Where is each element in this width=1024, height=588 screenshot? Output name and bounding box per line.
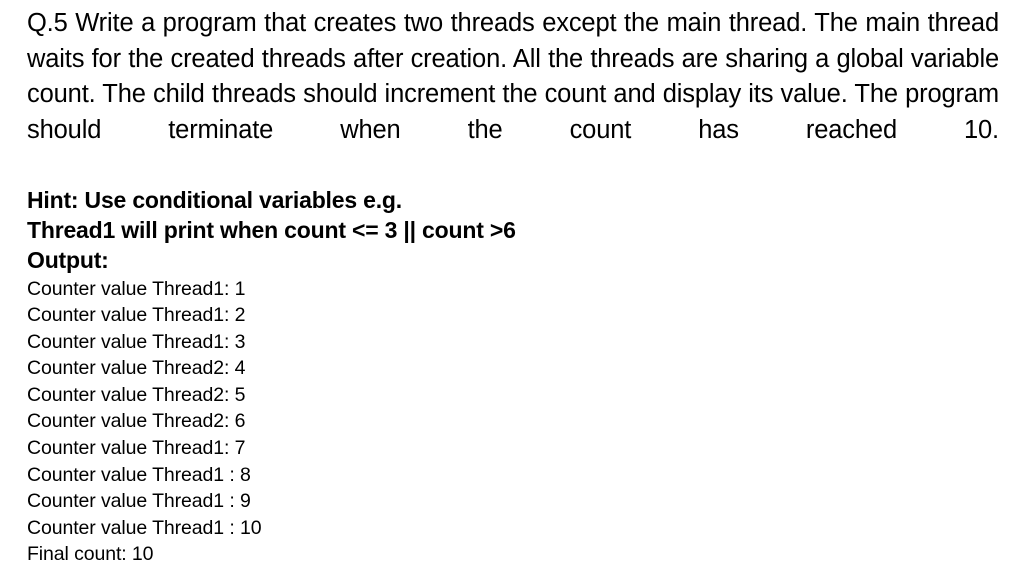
hint-line-1: Hint: Use conditional variables e.g. [27,185,998,215]
output-line: Counter value Thread1: 7 [27,435,998,462]
output-line: Counter value Thread1: 3 [27,329,998,356]
hint-block: Hint: Use conditional variables e.g. Thr… [27,185,998,275]
output-line: Counter value Thread1 : 9 [27,488,998,515]
question-paragraph: Q.5 Write a program that creates two thr… [27,6,999,184]
hint-line-2-condition: Thread1 will print when count <= 3 || co… [27,215,998,245]
output-line: Counter value Thread1 : 8 [27,462,998,489]
document-page: Q.5 Write a program that creates two thr… [0,0,1024,588]
output-line: Counter value Thread2: 5 [27,382,998,409]
output-line: Counter value Thread1: 1 [27,276,998,303]
output-listing: Counter value Thread1: 1 Counter value T… [27,276,998,569]
output-line: Counter value Thread1: 2 [27,302,998,329]
output-line: Counter value Thread2: 6 [27,408,998,435]
output-line-final-count: Final count: 10 [27,541,998,568]
output-line: Counter value Thread2: 4 [27,355,998,382]
output-heading: Output: [27,245,998,275]
output-line: Counter value Thread1 : 10 [27,515,998,542]
